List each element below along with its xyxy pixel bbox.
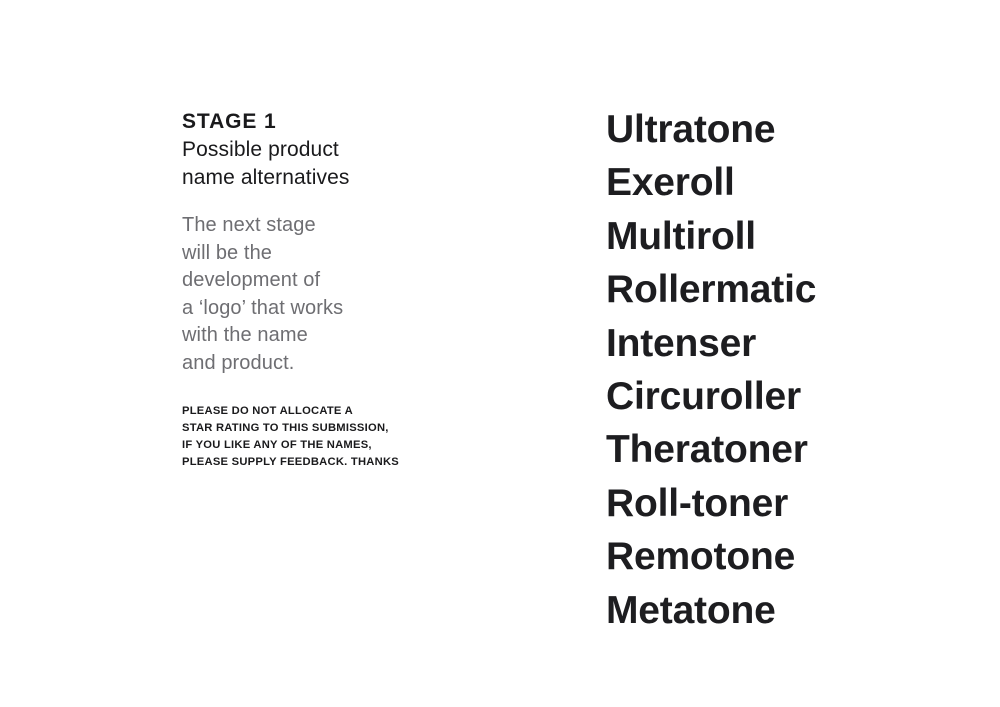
product-name-item: Circuroller — [606, 370, 966, 423]
feedback-notice-line: PLEASE DO NOT ALLOCATE A — [182, 403, 512, 420]
body-copy-line: with the name — [182, 322, 512, 350]
product-name-item: Intenser — [606, 317, 966, 370]
product-name-item: Ultratone — [606, 103, 966, 156]
subheading: Possible product name alternatives — [182, 136, 512, 192]
product-name-list: Ultratone Exeroll Multiroll Rollermatic … — [606, 103, 966, 637]
slide-canvas: STAGE 1 Possible product name alternativ… — [0, 0, 1000, 707]
body-copy: The next stage will be the development o… — [182, 212, 512, 377]
product-name-item: Remotone — [606, 530, 966, 583]
stage-heading: STAGE 1 — [182, 108, 512, 136]
body-copy-line: and product. — [182, 350, 512, 378]
feedback-notice-line: IF YOU LIKE ANY OF THE NAMES, — [182, 437, 512, 454]
body-copy-line: The next stage — [182, 212, 512, 240]
subheading-line: name alternatives — [182, 164, 512, 192]
product-name-item: Theratoner — [606, 423, 966, 476]
product-name-item: Rollermatic — [606, 263, 966, 316]
product-name-item: Multiroll — [606, 210, 966, 263]
product-name-item: Exeroll — [606, 156, 966, 209]
product-name-item: Roll-toner — [606, 477, 966, 530]
body-copy-line: will be the — [182, 240, 512, 268]
body-copy-line: a ‘logo’ that works — [182, 295, 512, 323]
feedback-notice-line: STAR RATING TO THIS SUBMISSION, — [182, 420, 512, 437]
feedback-notice: PLEASE DO NOT ALLOCATE A STAR RATING TO … — [182, 403, 512, 471]
product-name-item: Metatone — [606, 584, 966, 637]
feedback-notice-line: PLEASE SUPPLY FEEDBACK. THANKS — [182, 454, 512, 471]
left-information-column: STAGE 1 Possible product name alternativ… — [182, 108, 512, 471]
body-copy-line: development of — [182, 267, 512, 295]
subheading-line: Possible product — [182, 136, 512, 164]
